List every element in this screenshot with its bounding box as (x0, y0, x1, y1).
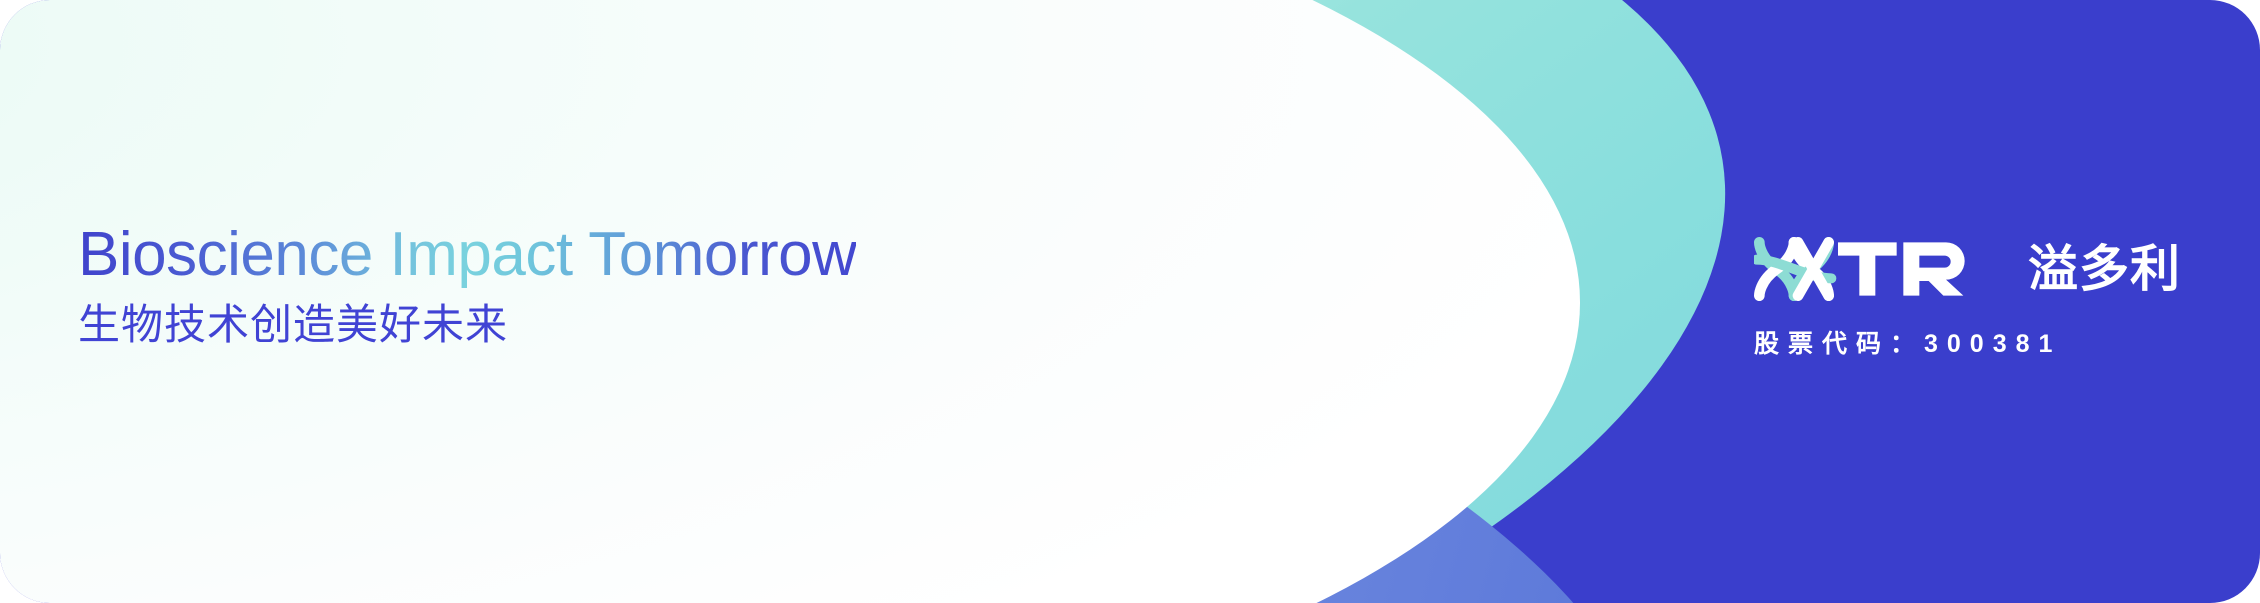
logo-lockup[interactable]: 溢多利 股票代码：300381 (1754, 234, 2154, 360)
logo-row: 溢多利 (1754, 234, 2154, 304)
brand-banner: Bioscience Impact Tomorrow 生物技术创造美好未来 (0, 0, 2260, 603)
xxtr-logo-icon (1754, 237, 2002, 301)
company-name-cn: 溢多利 (2028, 244, 2181, 294)
page-title: Bioscience Impact Tomorrow (78, 222, 856, 288)
banner-content: Bioscience Impact Tomorrow 生物技术创造美好未来 (0, 0, 2260, 603)
stock-code-label: 股票代码：300381 (1754, 324, 2154, 360)
headline-block: Bioscience Impact Tomorrow 生物技术创造美好未来 (78, 222, 856, 348)
subtitle: 生物技术创造美好未来 (78, 302, 856, 348)
